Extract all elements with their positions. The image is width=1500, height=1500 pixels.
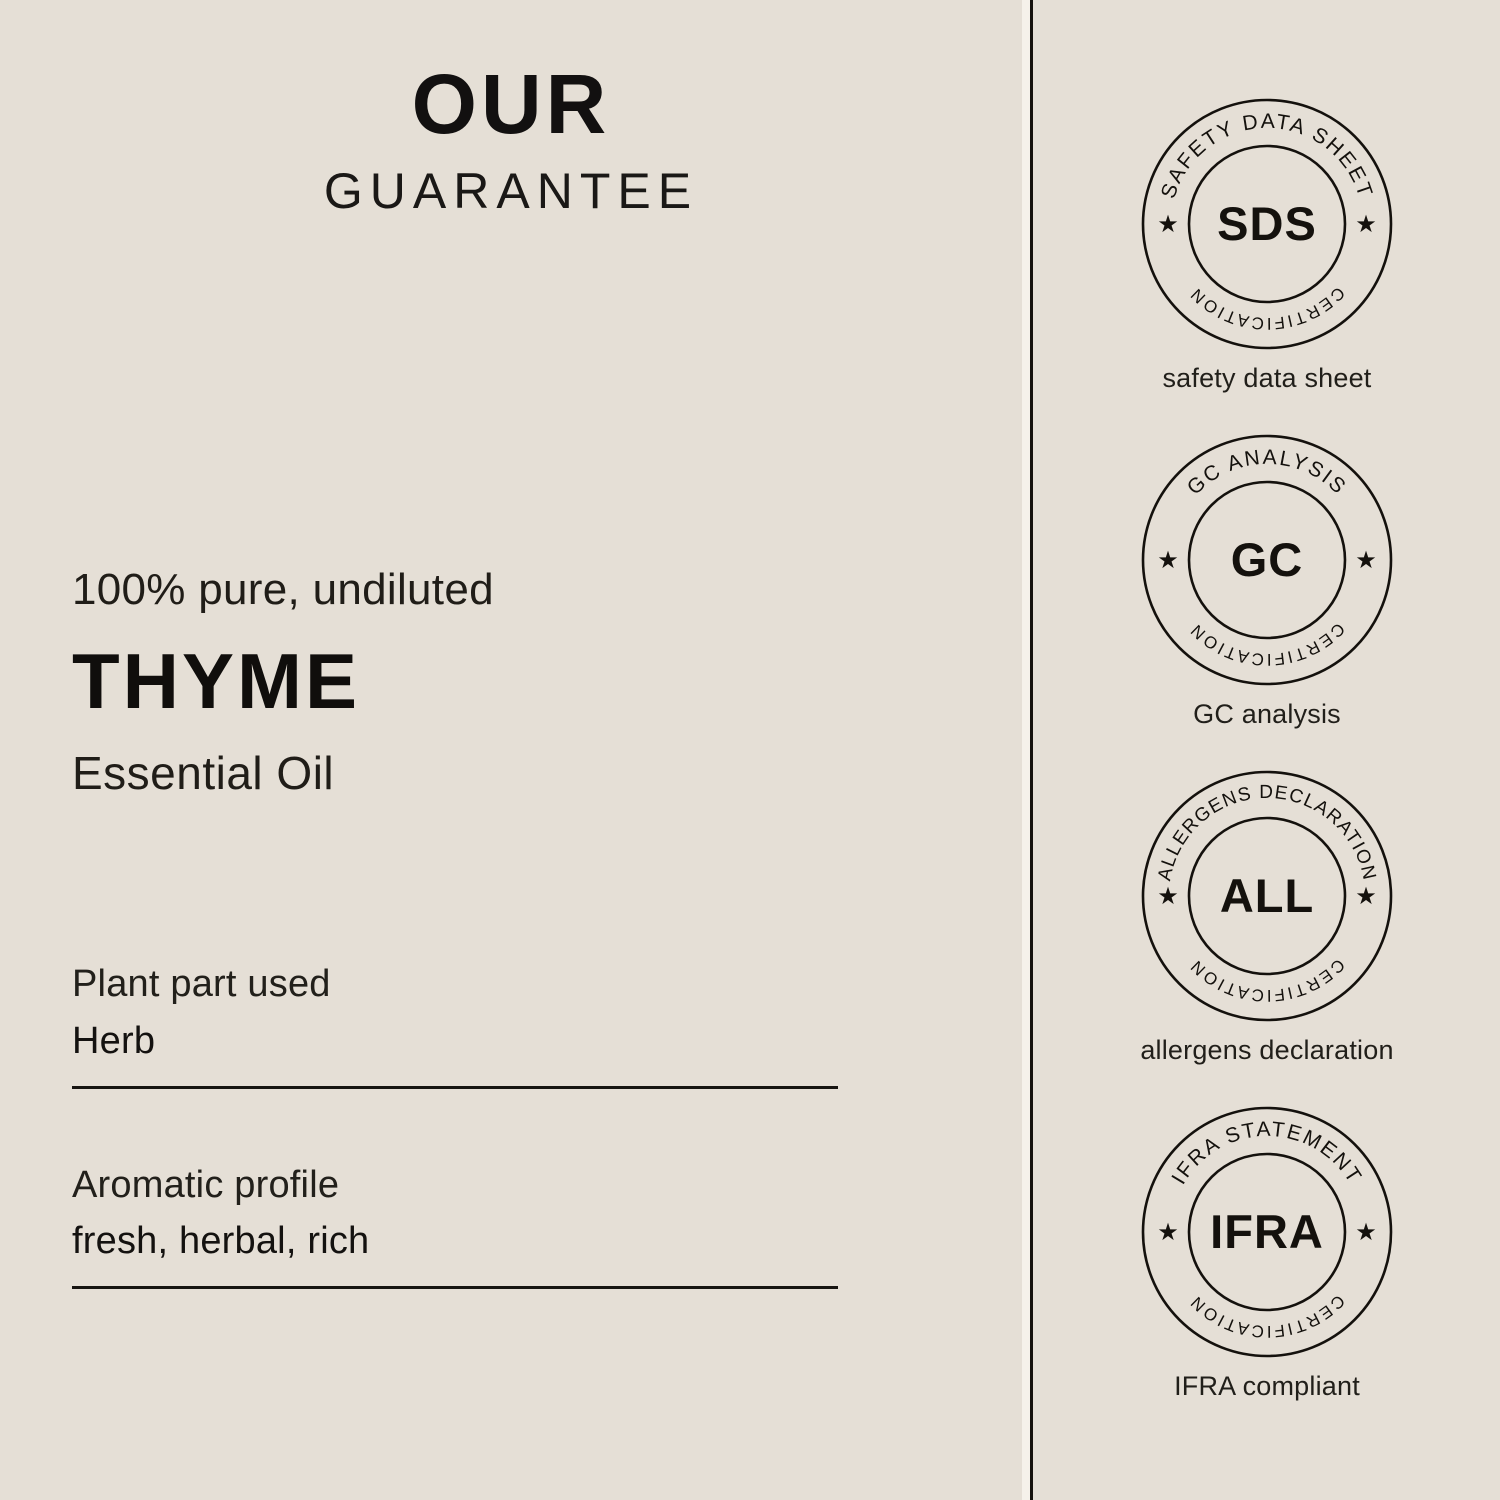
- certification-badge-sds: SAFETY DATA SHEET CERTIFICATION SDS ★ ★ …: [1034, 98, 1500, 394]
- star-left-icon: ★: [1157, 547, 1179, 574]
- spec-label: Plant part used: [72, 962, 838, 1007]
- product-tagline: 100% pure, undiluted: [72, 568, 952, 612]
- badge-bottom-text: CERTIFICATION: [1186, 283, 1349, 333]
- guarantee-panel: OUR GUARANTEE 100% pure, undiluted THYME…: [0, 0, 1500, 1500]
- badge-top-text: GC ANALYSIS: [1183, 446, 1352, 500]
- product-name: THYME: [72, 642, 952, 720]
- spec-list: Plant part used Herb Aromatic profile fr…: [72, 962, 838, 1297]
- star-right-icon: ★: [1355, 883, 1377, 910]
- title-line-guarantee: GUARANTEE: [0, 166, 1022, 216]
- certification-badge-gc: GC ANALYSIS CERTIFICATION GC ★ ★ GC anal…: [1034, 434, 1500, 730]
- title-line-our: OUR: [0, 62, 1022, 146]
- all-seal-icon: ALLERGENS DECLARATION CERTIFICATION ALL …: [1141, 770, 1393, 1022]
- badge-center-text: ALL: [1220, 869, 1314, 922]
- column-divider: [1022, 0, 1034, 1500]
- badge-caption: GC analysis: [1034, 700, 1500, 730]
- spec-value: fresh, herbal, rich: [72, 1219, 838, 1264]
- star-right-icon: ★: [1355, 1219, 1377, 1246]
- star-left-icon: ★: [1157, 883, 1179, 910]
- star-right-icon: ★: [1355, 547, 1377, 574]
- spec-field-aromatic-profile: Aromatic profile fresh, herbal, rich: [72, 1163, 838, 1290]
- spec-divider: [72, 1286, 838, 1289]
- sds-seal-icon: SAFETY DATA SHEET CERTIFICATION SDS ★ ★: [1141, 98, 1393, 350]
- badge-top-text: ALLERGENS DECLARATION: [1154, 782, 1380, 883]
- svg-text:SAFETY DATA SHEET: SAFETY DATA SHEET: [1157, 110, 1377, 202]
- svg-text:CERTIFICATION: CERTIFICATION: [1186, 283, 1349, 333]
- svg-text:CERTIFICATION: CERTIFICATION: [1186, 619, 1349, 669]
- badge-caption: safety data sheet: [1034, 364, 1500, 394]
- left-column: OUR GUARANTEE 100% pure, undiluted THYME…: [0, 0, 1022, 1500]
- badge-center-text: GC: [1231, 533, 1304, 586]
- star-left-icon: ★: [1157, 1219, 1179, 1246]
- ifra-seal-icon: IFRA STATEMENT CERTIFICATION IFRA ★ ★: [1141, 1106, 1393, 1358]
- svg-text:ALLERGENS DECLARATION: ALLERGENS DECLARATION: [1154, 782, 1380, 883]
- spec-label: Aromatic profile: [72, 1163, 838, 1208]
- certification-badge-allergens: ALLERGENS DECLARATION CERTIFICATION ALL …: [1034, 770, 1500, 1066]
- svg-text:CERTIFICATION: CERTIFICATION: [1186, 955, 1349, 1005]
- svg-text:GC ANALYSIS: GC ANALYSIS: [1183, 446, 1352, 500]
- badge-center-text: SDS: [1217, 197, 1317, 250]
- badge-caption: allergens declaration: [1034, 1036, 1500, 1066]
- divider-highlight: [1022, 0, 1030, 1500]
- svg-text:CERTIFICATION: CERTIFICATION: [1186, 1291, 1349, 1341]
- badge-bottom-text: CERTIFICATION: [1186, 1291, 1349, 1341]
- spec-field-plant-part: Plant part used Herb: [72, 962, 838, 1089]
- badge-top-text: SAFETY DATA SHEET: [1157, 110, 1377, 202]
- certification-badge-ifra: IFRA STATEMENT CERTIFICATION IFRA ★ ★ IF…: [1034, 1106, 1500, 1402]
- badge-caption: IFRA compliant: [1034, 1372, 1500, 1402]
- badge-center-text: IFRA: [1210, 1205, 1324, 1258]
- product-type: Essential Oil: [72, 750, 952, 796]
- badge-bottom-text: CERTIFICATION: [1186, 619, 1349, 669]
- spec-divider: [72, 1086, 838, 1089]
- divider-rule: [1030, 0, 1033, 1500]
- badge-bottom-text: CERTIFICATION: [1186, 955, 1349, 1005]
- page-title: OUR GUARANTEE: [0, 62, 1022, 216]
- certification-badge-column: SAFETY DATA SHEET CERTIFICATION SDS ★ ★ …: [1034, 0, 1500, 1500]
- gc-seal-icon: GC ANALYSIS CERTIFICATION GC ★ ★: [1141, 434, 1393, 686]
- spec-value: Herb: [72, 1019, 838, 1064]
- star-right-icon: ★: [1355, 211, 1377, 238]
- product-block: 100% pure, undiluted THYME Essential Oil: [72, 568, 952, 796]
- star-left-icon: ★: [1157, 211, 1179, 238]
